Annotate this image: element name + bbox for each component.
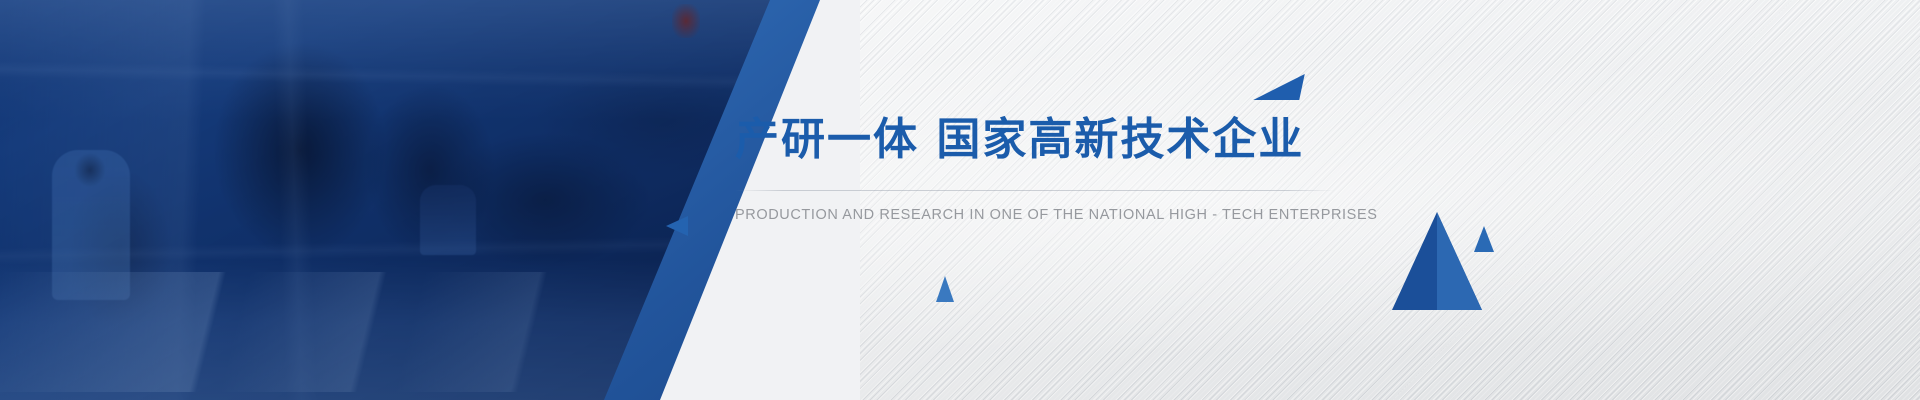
triangle-small-right-icon bbox=[1474, 226, 1494, 252]
triangle-small-center-icon bbox=[936, 276, 954, 302]
triangle-mid-left-icon bbox=[666, 216, 688, 236]
banner-text-block: 产研一体 国家高新技术企业 PRODUCTION AND RESEARCH IN… bbox=[735, 112, 1375, 225]
banner-headline: 产研一体 国家高新技术企业 bbox=[735, 112, 1375, 168]
hero-banner: 产研一体 国家高新技术企业 PRODUCTION AND RESEARCH IN… bbox=[0, 0, 1920, 400]
triangle-top-right-icon bbox=[1253, 74, 1305, 100]
divider-rule bbox=[735, 190, 1335, 191]
banner-subtitle: PRODUCTION AND RESEARCH IN ONE OF THE NA… bbox=[735, 205, 1375, 225]
